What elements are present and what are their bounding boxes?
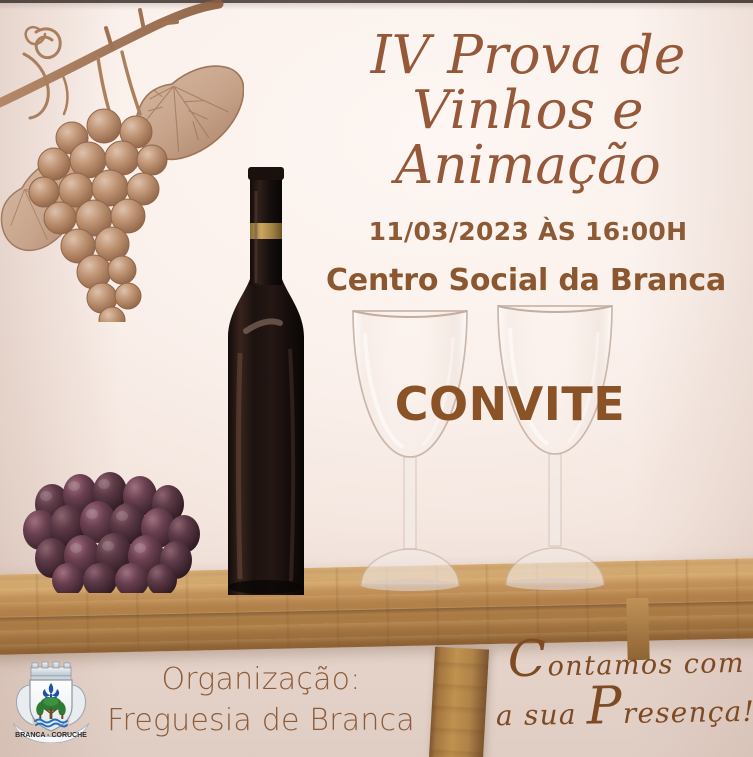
closing-line-1-capital: C: [507, 629, 548, 688]
poster-canvas: IV Prova de Vinhos e Animação 11/03/2023…: [0, 0, 753, 757]
title-line-1: IV Prova de: [318, 28, 738, 83]
coat-of-arms-icon: BRANCA - CORUCHE: [9, 661, 93, 743]
closing-line-1-rest: ontamos com: [547, 648, 745, 682]
organizer-block: Organização: Freguesia de Branca: [96, 660, 426, 742]
event-venue: Centro Social da Branca: [300, 263, 752, 298]
closing-line-2: a sua Presença!: [496, 698, 753, 731]
wine-glass-right: [490, 302, 620, 592]
closing-line-2-capital: P: [586, 676, 623, 737]
event-datetime: 11/03/2023 ÀS 16:00H: [318, 217, 738, 246]
table-leg: [429, 647, 489, 757]
organizer-label: Organização:: [96, 660, 426, 701]
grape-vine-illustration: [0, 0, 244, 322]
invite-label: CONVITE: [300, 377, 720, 431]
title-line-3: Animação: [318, 138, 738, 193]
title-line-2: Vinhos e: [318, 83, 738, 138]
mural-crown: [31, 662, 71, 680]
organizer-name: Freguesia de Branca: [96, 701, 426, 742]
closing-line-2-rest: resença!: [623, 695, 753, 730]
wine-glass-left: [345, 307, 475, 592]
grapes-bunch-photo: [22, 468, 232, 593]
closing-line-1: Contamos com: [508, 650, 745, 681]
page-title: IV Prova de Vinhos e Animação: [318, 28, 738, 193]
crest-banner-text: BRANCA - CORUCHE: [15, 732, 87, 739]
closing-line-2-pre: a sua: [496, 698, 587, 733]
